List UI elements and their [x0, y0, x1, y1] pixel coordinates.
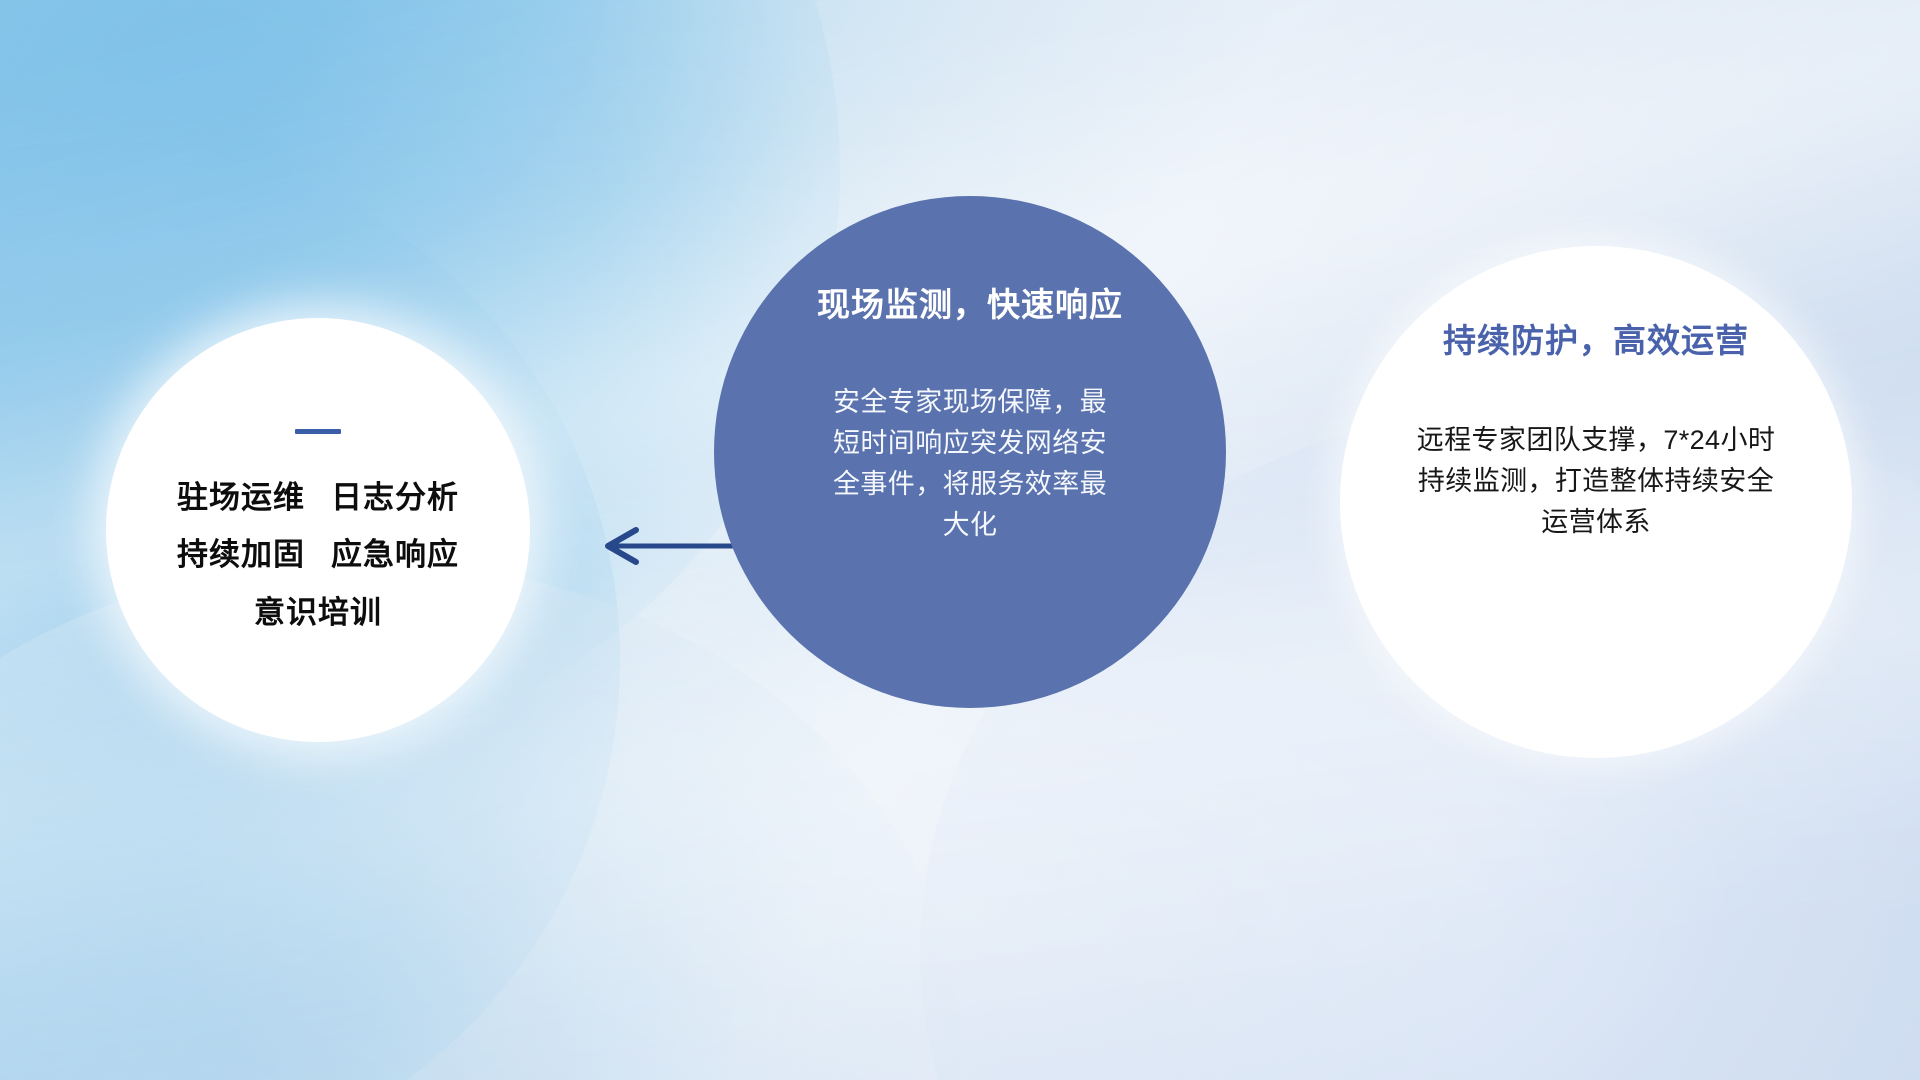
capability-tag: 持续加固 — [177, 537, 305, 574]
capability-circle-right[interactable]: 持续防护，高效运营 远程专家团队支撑，7*24小时持续监测，打造整体持续安全运营… — [1340, 246, 1852, 758]
middle-circle-description: 安全专家现场保障，最短时间响应突发网络安全事件，将服务效率最大化 — [820, 382, 1120, 546]
capability-row: 驻场运维 日志分析 — [177, 480, 459, 517]
slide-canvas: 驻场运维 日志分析 持续加固 应急响应 意识培训 现场监测，快速响应 安全专家现… — [0, 0, 1920, 1080]
right-circle-title: 持续防护，高效运营 — [1443, 314, 1749, 362]
horizontal-dash-icon — [295, 429, 341, 434]
capability-circle-left[interactable]: 驻场运维 日志分析 持续加固 应急响应 意识培训 — [106, 318, 530, 742]
left-circle-content: 驻场运维 日志分析 持续加固 应急响应 意识培训 — [106, 318, 530, 742]
capability-tag: 日志分析 — [331, 480, 459, 517]
capability-tag: 驻场运维 — [177, 480, 305, 517]
capability-tag: 意识培训 — [254, 595, 382, 632]
right-circle-content: 持续防护，高效运营 远程专家团队支撑，7*24小时持续监测，打造整体持续安全运营… — [1340, 246, 1852, 758]
right-circle-description: 远程专家团队支撑，7*24小时持续监测，打造整体持续安全运营体系 — [1410, 420, 1782, 543]
middle-circle-content: 现场监测，快速响应 安全专家现场保障，最短时间响应突发网络安全事件，将服务效率最… — [714, 196, 1226, 708]
capability-row: 持续加固 应急响应 — [177, 537, 459, 574]
capability-tag: 应急响应 — [331, 537, 459, 574]
middle-circle-title: 现场监测，快速响应 — [817, 278, 1123, 326]
capability-row: 意识培训 — [254, 595, 382, 632]
capability-circle-middle[interactable]: 现场监测，快速响应 安全专家现场保障，最短时间响应突发网络安全事件，将服务效率最… — [714, 196, 1226, 708]
